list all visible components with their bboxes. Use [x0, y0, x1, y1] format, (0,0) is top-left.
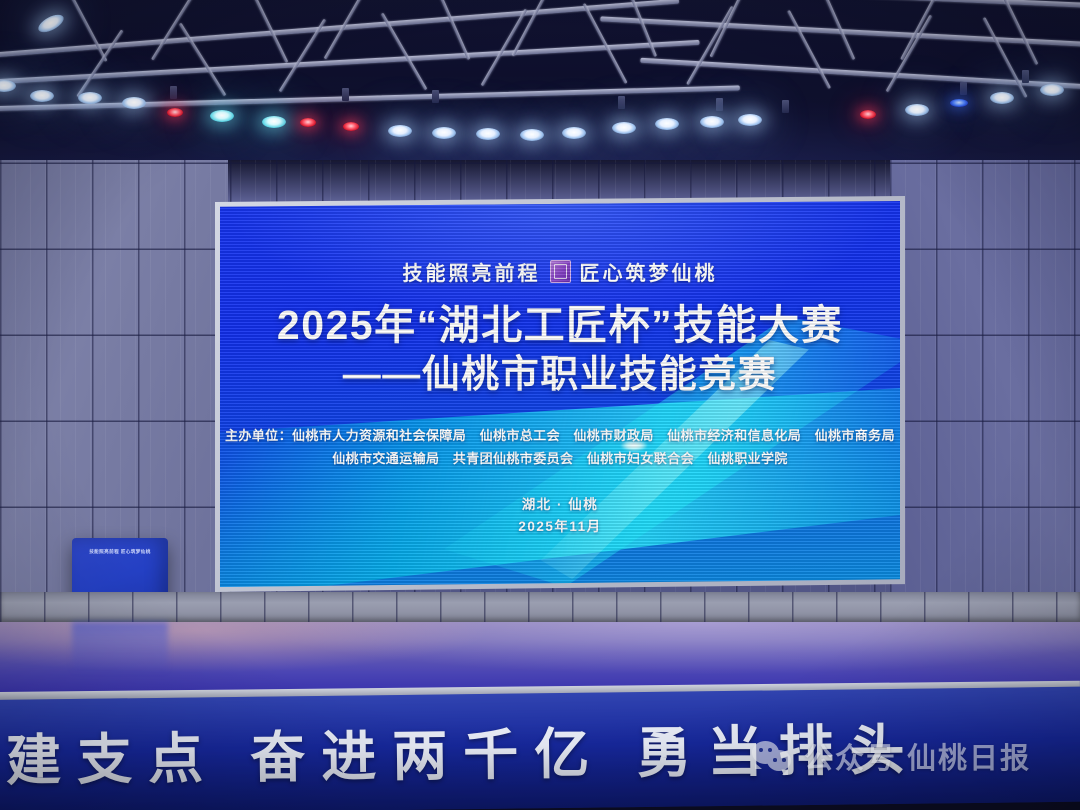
ceiling-truss-area — [0, 0, 1080, 186]
stage-light — [562, 127, 586, 139]
competition-emblem-icon — [550, 260, 571, 283]
led-screen-frame: 技能照亮前程 匠心筑梦仙桃 2025年“湖北工匠杯”技能大赛 ——仙桃市职业技能… — [215, 196, 905, 592]
stage-light — [432, 127, 456, 139]
event-slogan: 技能照亮前程 匠心筑梦仙桃 — [403, 257, 718, 286]
event-title-main: 2025年“湖北工匠杯”技能大赛 — [277, 300, 843, 350]
wechat-dot — [759, 748, 763, 752]
stage-light — [700, 116, 724, 128]
light-fixture-mount — [960, 82, 967, 95]
organizer-block: 主办单位：仙桃市人力资源和社会保障局 仙桃市总工会 仙桃市财政局 仙桃市经济和信… — [225, 425, 895, 470]
wechat-watermark: 公众号 仙桃日报 — [752, 735, 1031, 777]
podium-slogan: 技能照亮前程 匠心筑梦仙桃 — [72, 549, 168, 555]
event-place-date: 湖北 · 仙桃 2025年11月 — [518, 494, 601, 537]
stage-light — [655, 118, 679, 130]
light-fixture-mount — [170, 86, 177, 99]
stage-light — [612, 122, 636, 134]
stage-light — [905, 104, 929, 116]
stage-light-blue — [950, 99, 968, 107]
light-fixture-mount — [342, 88, 349, 101]
stage-light — [990, 92, 1014, 104]
light-fixture-mount — [432, 90, 439, 103]
watermark-text: 公众号 仙桃日报 — [804, 735, 1031, 777]
led-screen: 技能照亮前程 匠心筑梦仙桃 2025年“湖北工匠杯”技能大赛 ——仙桃市职业技能… — [220, 201, 900, 587]
stage-light-red — [167, 108, 183, 117]
stage-light-cyan — [262, 116, 286, 128]
stage-light-red — [860, 110, 876, 119]
led-screen-content: 技能照亮前程 匠心筑梦仙桃 2025年“湖北工匠杯”技能大赛 ——仙桃市职业技能… — [220, 201, 900, 587]
event-title-sub: ——仙桃市职业技能竞赛 — [343, 352, 778, 398]
podium-reflection — [72, 622, 168, 674]
light-fixture-mount — [618, 96, 625, 109]
wechat-dot — [782, 758, 786, 762]
stage-photo-scene: 技能照亮前程 匠心筑梦仙桃 2025年“湖北工匠杯”技能大赛 ——仙桃市职业技能… — [0, 0, 1080, 810]
stage-light — [30, 90, 54, 102]
light-fixture-mount — [1022, 70, 1029, 83]
organizer-line-2: 仙桃市交通运输局 共青团仙桃市委员会 仙桃市妇女联合会 仙桃职业学院 — [225, 448, 895, 470]
stage-riser-skirt — [0, 592, 1080, 622]
stage-light — [738, 114, 762, 126]
stage-light-red — [343, 122, 359, 131]
stage-light-red — [300, 118, 316, 127]
wechat-icon — [752, 739, 796, 773]
stage-light — [476, 128, 500, 140]
stage-light — [78, 92, 102, 104]
stage-light-cyan — [210, 110, 234, 122]
stage-light — [388, 125, 412, 137]
event-place: 湖北 · 仙桃 — [518, 494, 601, 516]
event-date: 2025年11月 — [518, 516, 601, 538]
stage-light — [122, 97, 146, 109]
stage-light — [1040, 84, 1064, 96]
wechat-dot — [773, 758, 777, 762]
wechat-dot — [768, 748, 772, 752]
light-fixture-mount — [716, 98, 723, 111]
slogan-left-text: 技能照亮前程 — [403, 257, 541, 286]
stage-light — [520, 129, 544, 141]
organizer-line-1: 主办单位：仙桃市人力资源和社会保障局 仙桃市总工会 仙桃市财政局 仙桃市经济和信… — [225, 425, 895, 447]
light-fixture-mount — [782, 100, 789, 113]
wechat-bubble-small — [767, 750, 791, 771]
slogan-right-text: 匠心筑梦仙桃 — [580, 257, 718, 286]
